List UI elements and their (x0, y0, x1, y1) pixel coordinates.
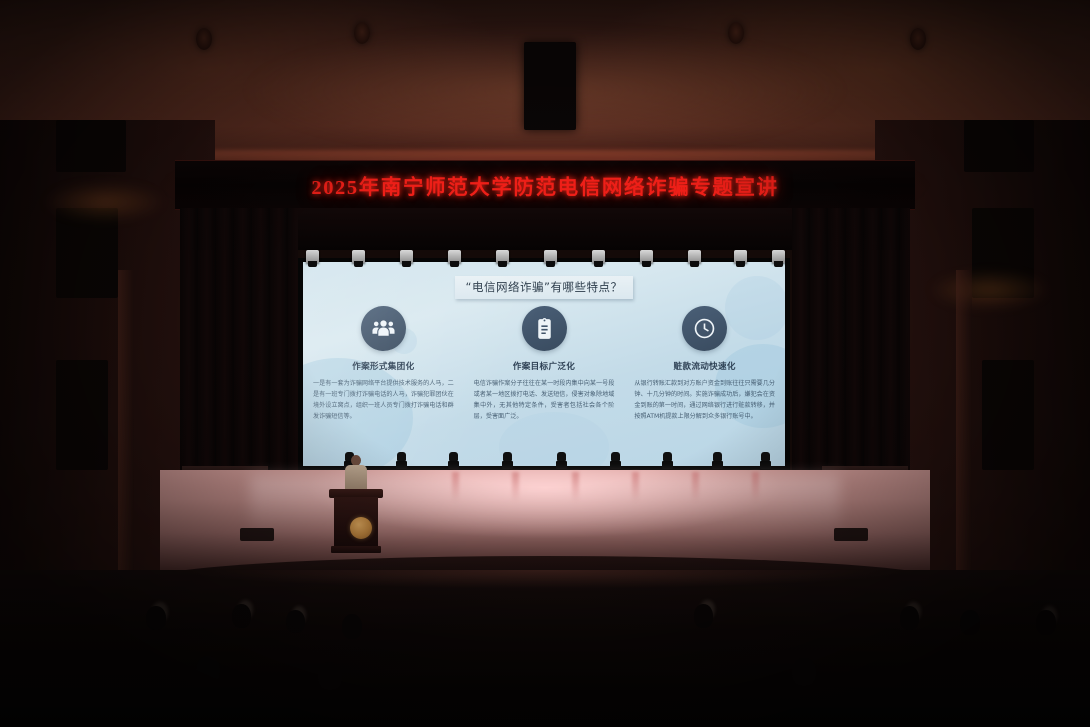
wall-panel (56, 360, 108, 470)
audience-member (342, 614, 362, 639)
audience-member (1036, 610, 1056, 635)
projector-housing (524, 42, 576, 130)
column-heading: 作案目标广泛化 (513, 360, 575, 372)
stage-light (688, 250, 701, 263)
column-heading: 赃款流动快速化 (674, 360, 736, 372)
moving-head-light (396, 452, 407, 469)
stage-light (306, 250, 319, 263)
audience-member (286, 610, 305, 633)
lighting-truss (300, 250, 788, 266)
stage-light (496, 250, 509, 263)
wall-sconce-glow (930, 270, 1050, 310)
slide-title-container: “电信网络诈骗”有哪些特点？ (303, 276, 785, 299)
light-reflection-streak (512, 472, 519, 502)
projection-screen: “电信网络诈骗”有哪些特点？ 作案形式集团化 一是有一套为诈骗网络平台提供技术服… (303, 262, 785, 466)
people-group-icon (361, 306, 406, 351)
column-heading: 作案形式集团化 (352, 360, 414, 372)
slide-column: 作案形式集团化 一是有一套为诈骗网络平台提供技术服务的人马，二是有一班专门拨打诈… (303, 306, 464, 422)
light-reflection-streak (692, 472, 699, 502)
stage-light (640, 250, 653, 263)
stage-wing-monitor (834, 528, 868, 541)
floor-lighting-row (300, 452, 788, 472)
podium-base (331, 546, 381, 553)
ceiling-downlight (354, 22, 370, 44)
moving-head-light (760, 452, 771, 469)
audience-member (232, 604, 251, 628)
audience-member (900, 606, 919, 630)
column-body: 电信诈骗作案分子往往在某一时段内集中向某一号段或者某一地区拨打电话、发送短信，侵… (474, 379, 615, 422)
slide-title: “电信网络诈骗”有哪些特点？ (455, 276, 634, 299)
moving-head-light (502, 452, 513, 469)
audience-member (146, 606, 166, 630)
podium (329, 489, 383, 553)
auditorium-scene: 2025年南宁师范大学防范电信网络诈骗专题宣讲 “电信网络诈骗”有哪些特点？ 作… (0, 0, 1090, 727)
stage-light (772, 250, 785, 263)
clock-icon (682, 306, 727, 351)
podium-body (334, 497, 378, 547)
led-banner: 2025年南宁师范大学防范电信网络诈骗专题宣讲 (175, 160, 915, 210)
ceiling-downlight (728, 22, 744, 44)
ceiling-downlight (196, 28, 212, 50)
slide-column: 作案目标广泛化 电信诈骗作案分子往往在某一时段内集中向某一号段或者某一地区拨打电… (464, 306, 625, 422)
stage-light (544, 250, 557, 263)
wall-sconce-glow (44, 182, 164, 222)
audience-member (196, 656, 220, 684)
stage-light (592, 250, 605, 263)
university-crest-emblem (350, 517, 372, 539)
clipboard-icon (522, 306, 567, 351)
stage-light (448, 250, 461, 263)
column-body: 一是有一套为诈骗网络平台提供技术服务的人马，二是有一班专门拨打诈骗电话的人马，诈… (313, 379, 454, 422)
balcony-rail-glow (0, 570, 1090, 590)
wall-panel (982, 360, 1034, 470)
moving-head-light (556, 452, 567, 469)
slide-columns: 作案形式集团化 一是有一套为诈骗网络平台提供技术服务的人马，二是有一班专门拨打诈… (303, 306, 785, 422)
stage-light (734, 250, 747, 263)
column-body: 从银行转账汇款到对方账户资金到账往往只需要几分钟、十几分钟的时间。实施诈骗成功后… (634, 379, 775, 422)
audience-member (694, 604, 713, 628)
audience-area (0, 570, 1090, 727)
moving-head-light (610, 452, 621, 469)
audience-member (1000, 654, 1024, 682)
light-reflection-streak (752, 472, 759, 502)
slide-column: 赃款流动快速化 从银行转账汇款到对方账户资金到账往往只需要几分钟、十几分钟的时间… (624, 306, 785, 422)
wall-panel (56, 120, 126, 172)
banner-text: 2025年南宁师范大学防范电信网络诈骗专题宣讲 (311, 170, 778, 200)
wall-panel (964, 120, 1034, 172)
moving-head-light (448, 452, 459, 469)
stage-wing-monitor (240, 528, 274, 541)
moving-head-light (712, 452, 723, 469)
audience-member (960, 610, 980, 635)
light-reflection-streak (452, 472, 459, 502)
audience-member (792, 658, 816, 686)
light-reflection-streak (572, 472, 579, 502)
stage-light (400, 250, 413, 263)
ceiling-downlight (910, 28, 926, 50)
moving-head-light (662, 452, 673, 469)
audience-member (318, 662, 342, 690)
stage-light (352, 250, 365, 263)
light-reflection-streak (632, 472, 639, 502)
